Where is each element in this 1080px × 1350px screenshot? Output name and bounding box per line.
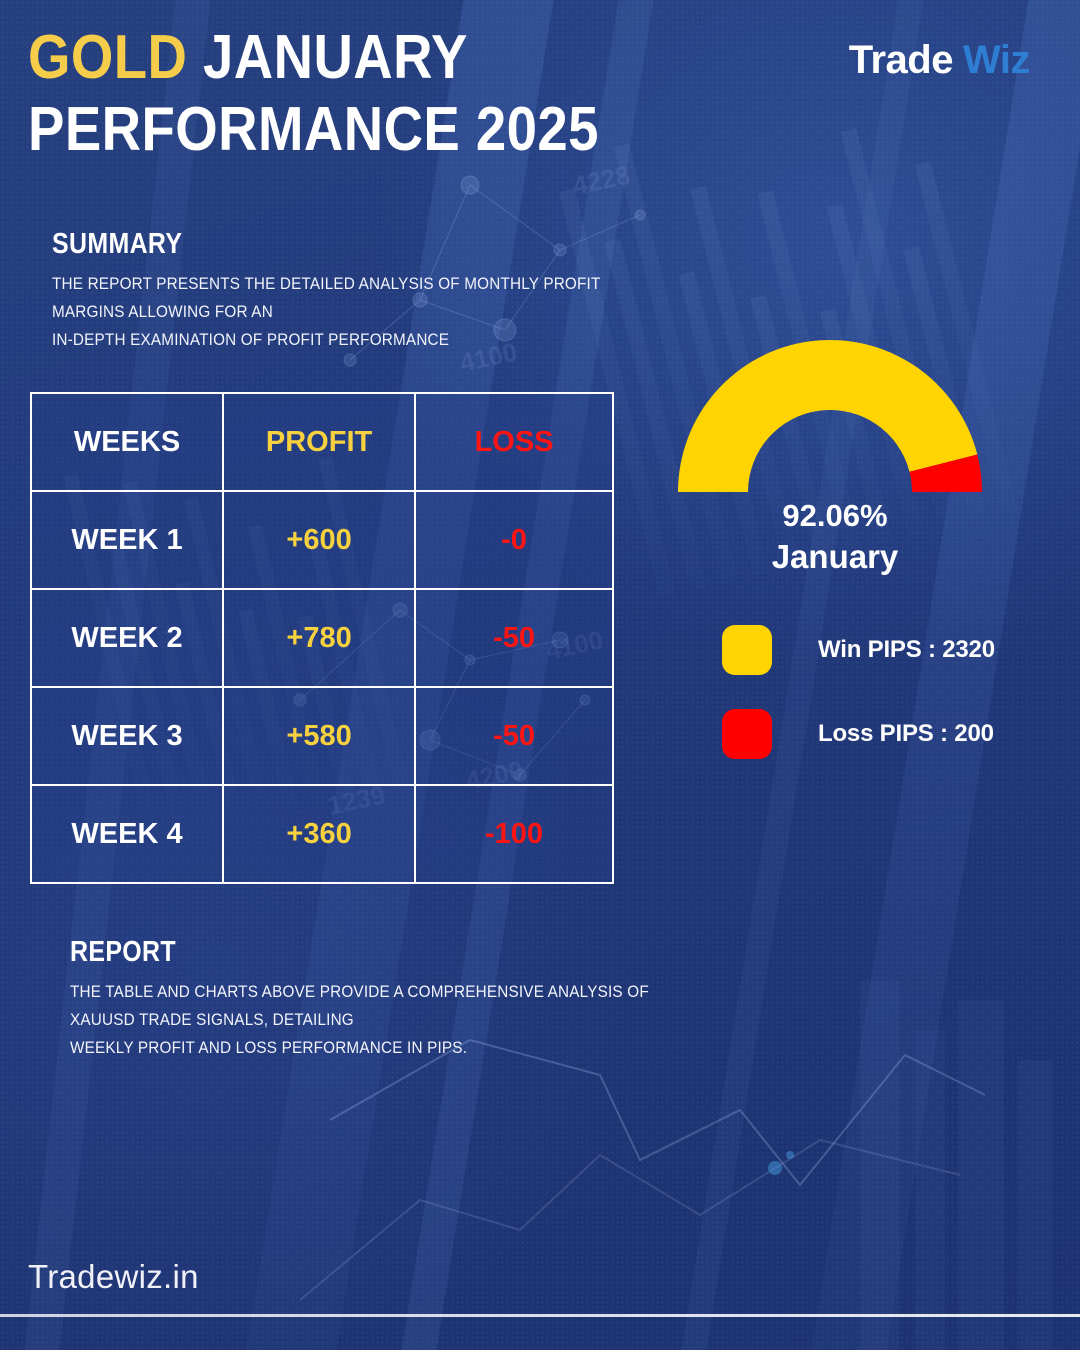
footer-website[interactable]: Tradewiz.in	[28, 1258, 199, 1296]
page-title-line1: GOLD JANUARY	[28, 22, 662, 94]
legend-item-win: Win PIPS : 2320	[722, 622, 995, 678]
gauge-svg	[660, 326, 1000, 502]
table-row: WEEK 4 +360 -100	[31, 785, 613, 883]
cell-week-2: WEEK 2	[31, 589, 223, 687]
report-heading: REPORT	[70, 936, 689, 969]
summary-body: THE REPORT PRESENTS THE DETAILED ANALYSI…	[52, 270, 610, 354]
performance-table-container: WEEKS PROFIT LOSS WEEK 1 +600 -0 WEEK 2 …	[30, 392, 614, 884]
legend-swatch-loss-icon	[722, 709, 772, 759]
cell-week-4: WEEK 4	[31, 785, 223, 883]
page-title-gold-word: GOLD	[28, 23, 187, 92]
cell-profit-1: +600	[223, 491, 415, 589]
table-header-row: WEEKS PROFIT LOSS	[31, 393, 613, 491]
report-section: REPORT THE TABLE AND CHARTS ABOVE PROVID…	[70, 936, 790, 1062]
column-header-profit: PROFIT	[223, 393, 415, 491]
column-header-loss: LOSS	[415, 393, 613, 491]
cell-loss-1: -0	[415, 491, 613, 589]
summary-section: SUMMARY THE REPORT PRESENTS THE DETAILED…	[52, 228, 672, 354]
win-loss-gauge-chart	[660, 326, 1000, 502]
page-title-line2: PERFORMANCE 2025	[28, 94, 662, 166]
gauge-percent-label: 92.06%	[660, 496, 1010, 536]
footer-divider	[0, 1314, 1080, 1317]
gauge-legend: Win PIPS : 2320 Loss PIPS : 200	[722, 622, 995, 790]
legend-item-loss: Loss PIPS : 200	[722, 706, 995, 762]
brand-logo[interactable]: TradeWiz	[849, 38, 1030, 83]
cell-loss-4: -100	[415, 785, 613, 883]
column-header-weeks: WEEKS	[31, 393, 223, 491]
cell-loss-3: -50	[415, 687, 613, 785]
cell-profit-2: +780	[223, 589, 415, 687]
gauge-month-label: January	[660, 536, 1010, 578]
cell-week-3: WEEK 3	[31, 687, 223, 785]
gauge-caption: 92.06% January	[660, 496, 1010, 578]
legend-swatch-win-icon	[722, 625, 772, 675]
table-row: WEEK 3 +580 -50	[31, 687, 613, 785]
summary-heading: SUMMARY	[52, 228, 585, 261]
legend-label-win: Win PIPS : 2320	[818, 636, 995, 664]
page-header: GOLD JANUARY PERFORMANCE 2025	[28, 22, 748, 166]
logo-text-wiz: Wiz	[963, 38, 1030, 82]
page-title-rest: JANUARY	[187, 23, 467, 92]
performance-table: WEEKS PROFIT LOSS WEEK 1 +600 -0 WEEK 2 …	[30, 392, 614, 884]
cell-profit-3: +580	[223, 687, 415, 785]
cell-week-1: WEEK 1	[31, 491, 223, 589]
legend-label-loss: Loss PIPS : 200	[818, 720, 994, 748]
report-body: THE TABLE AND CHARTS ABOVE PROVIDE A COM…	[70, 978, 718, 1062]
table-row: WEEK 1 +600 -0	[31, 491, 613, 589]
logo-text-trade: Trade	[849, 38, 953, 82]
cell-profit-4: +360	[223, 785, 415, 883]
table-row: WEEK 2 +780 -50	[31, 589, 613, 687]
cell-loss-2: -50	[415, 589, 613, 687]
